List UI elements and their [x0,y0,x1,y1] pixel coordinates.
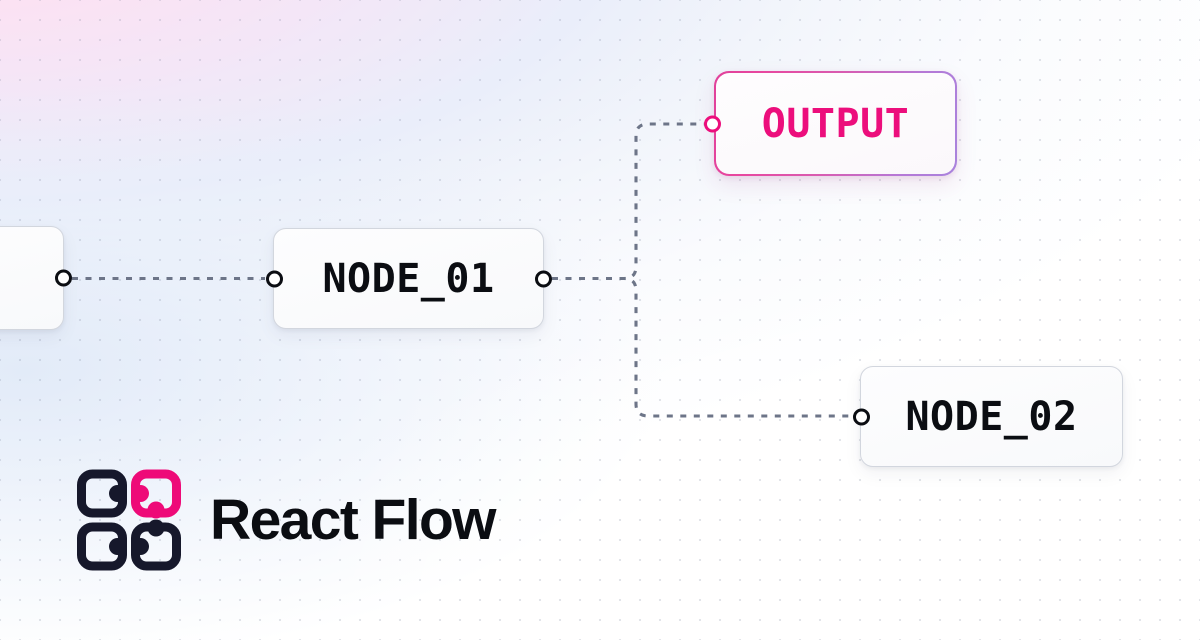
node-label-node-02: NODE_02 [905,394,1077,440]
handle-source-partial[interactable] [55,270,72,287]
handle-target-output[interactable] [704,115,721,132]
react-flow-canvas[interactable]: NODE_01 OUTPUT NODE_02 R [0,0,1200,640]
logo-dot-bottom-right [132,538,149,555]
handle-target-node-01[interactable] [266,270,283,287]
handle-target-node-02[interactable] [853,408,870,425]
react-flow-logo-text: React Flow [210,487,495,553]
node-node-01[interactable]: NODE_01 [273,228,544,329]
node-partial[interactable] [0,226,64,330]
logo-dot-top-right [132,485,149,502]
node-output[interactable]: OUTPUT [714,71,957,176]
logo-dot-mid-lower [148,520,165,537]
handle-source-node-01[interactable] [535,270,552,287]
react-flow-logo-mark [76,468,182,572]
node-label-output: OUTPUT [762,101,910,147]
logo-dot-top-left [109,485,126,502]
node-label-node-01: NODE_01 [322,256,494,302]
logo-dot-bottom-left [109,538,126,555]
react-flow-logo[interactable]: React Flow [76,468,495,572]
node-node-02[interactable]: NODE_02 [860,366,1123,467]
logo-dot-mid-upper [148,502,165,519]
